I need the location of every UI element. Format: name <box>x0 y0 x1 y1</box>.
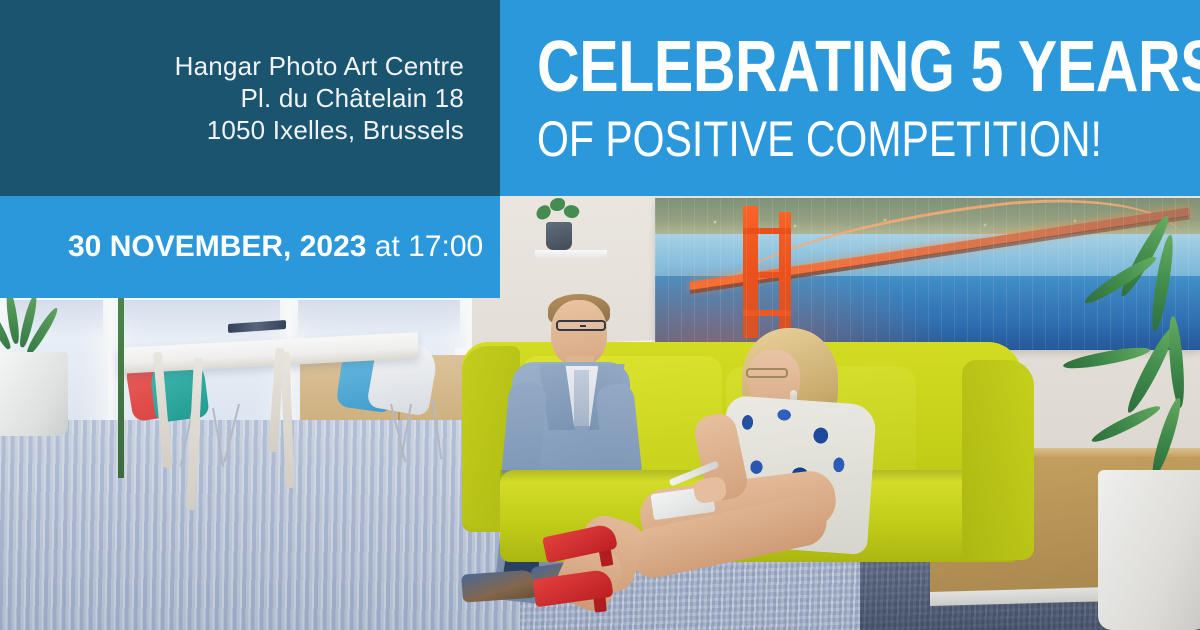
venue-line-2: Pl. du Châtelain 18 <box>240 82 464 114</box>
headline-panel: CELEBRATING 5 YEARS OF POSITIVE COMPETIT… <box>500 0 1200 196</box>
carpet-floor-left <box>0 420 520 630</box>
skyline-middle <box>118 300 280 338</box>
event-banner: Hangar Photo Art Centre Pl. du Châtelain… <box>0 0 1200 630</box>
sofa-arm-right <box>962 360 1034 560</box>
headline-line-1: CELEBRATING 5 YEARS <box>537 29 1050 105</box>
wall-niche-shelf <box>535 250 607 260</box>
woman-glasses-icon <box>746 368 788 378</box>
event-date: 30 NOVEMBER, 2023 <box>68 230 366 263</box>
skyline-right <box>298 300 460 338</box>
small-plant-icon <box>534 196 586 226</box>
venue-line-1: Hangar Photo Art Centre <box>175 50 464 82</box>
man-tie <box>574 370 589 426</box>
small-planter <box>546 222 572 250</box>
headline-line-2: OF POSITIVE COMPETITION! <box>537 111 1050 167</box>
venue-panel: Hangar Photo Art Centre Pl. du Châtelain… <box>0 0 500 196</box>
event-time: 17:00 <box>408 230 483 263</box>
palm-white-pot <box>1098 470 1200 630</box>
left-white-planter <box>0 352 68 436</box>
venue-line-3: 1050 Ixelles, Brussels <box>207 114 464 146</box>
palm-plant-foliage <box>1060 196 1200 496</box>
date-time-text: 30 NOVEMBER, 2023 at 17:00 <box>68 230 483 264</box>
man-shoe <box>461 569 539 602</box>
date-time-bar: 30 NOVEMBER, 2023 at 17:00 <box>0 196 500 298</box>
man-glasses-icon <box>556 320 606 331</box>
time-prefix: at <box>366 230 408 263</box>
